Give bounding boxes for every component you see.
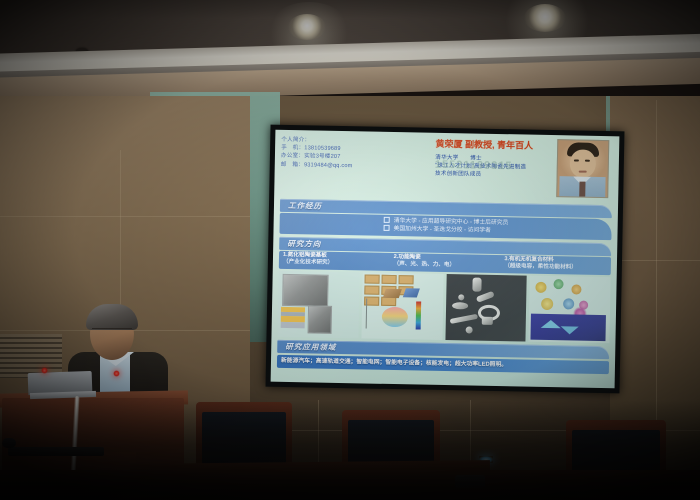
research-column: 3.有机无机复合材料 （超级电容，柔性功能材料） xyxy=(500,255,611,275)
contact-block: 个人简介： 手 机：13810539689 办公室：实验3号楼207 邮 箱：9… xyxy=(281,134,434,172)
presenter-name-title: 黄荣厦 副教授, 青年百人 xyxy=(435,138,555,152)
molecule-node xyxy=(541,298,553,310)
contact-value: 9319484@qq.com xyxy=(304,162,353,169)
research-column: 1.氮化铝陶瓷基板 （产业化技术研究） xyxy=(279,251,390,271)
composite-illustration xyxy=(531,313,606,340)
chip xyxy=(398,275,413,284)
layer-diagram xyxy=(281,307,305,329)
indicator-light-red-icon xyxy=(41,367,48,374)
figure-samples xyxy=(361,272,443,340)
glasses-icon xyxy=(92,328,132,337)
photo-eye xyxy=(584,160,589,162)
ceramic-rod xyxy=(449,314,477,324)
desk-phone xyxy=(455,475,485,488)
chair-back xyxy=(202,412,286,464)
triangle-shape xyxy=(561,326,579,334)
figure-components xyxy=(445,274,527,342)
presenter-hair xyxy=(86,304,138,330)
screenshot-root: 4 15521139315 个人简介： 手 机：13 xyxy=(0,0,700,500)
chip xyxy=(364,274,379,283)
presenter-photo xyxy=(556,139,609,198)
ceramic-part xyxy=(475,291,494,303)
molecule-node xyxy=(572,284,582,294)
contact-label: 办公室： xyxy=(281,153,304,159)
research-column: 2.功能陶瓷 （声、光、热、力、电） xyxy=(389,253,500,273)
figure-equipment xyxy=(277,271,359,339)
figure-molecules xyxy=(529,275,611,343)
sample-plate xyxy=(383,289,402,298)
research-column-sub: （声、光、热、力、电） xyxy=(393,261,497,270)
presenter-photo-wrap xyxy=(556,139,614,198)
photo-tie xyxy=(579,182,585,197)
sample-plate xyxy=(403,288,420,297)
photo-mouth xyxy=(578,171,586,173)
contact-value: 13810539689 xyxy=(304,145,341,152)
ceramic-part xyxy=(465,326,472,333)
presentation-slide: 15521139315 个人简介： 手 机：13810539689 办公室：实验… xyxy=(271,130,620,389)
figure-image xyxy=(282,274,329,307)
research-column-sub: （超级电容，柔性功能材料） xyxy=(504,264,608,273)
colorbar-legend xyxy=(415,301,421,329)
bullet-square-icon xyxy=(384,225,390,231)
slide-watermark-number: 15521139315 xyxy=(435,159,513,172)
bullet-square-icon xyxy=(384,217,390,223)
figure-strip xyxy=(277,271,610,343)
screen-surface: 15521139315 个人简介： 手 机：13810539689 办公室：实验… xyxy=(271,130,620,389)
ceiling-light-icon xyxy=(524,4,566,32)
molecule-node xyxy=(554,279,564,289)
photo-face xyxy=(569,149,596,177)
experience-text: 美国加州大学 - 圣迭戈分校 - 访问学者 xyxy=(394,226,491,234)
simulation-disc xyxy=(381,307,407,327)
screen-frame: 15521139315 个人简介： 手 机：13810539689 办公室：实验… xyxy=(266,125,625,394)
wall-seam xyxy=(0,216,250,217)
wall-seam xyxy=(612,260,700,261)
ceramic-part xyxy=(481,317,492,325)
contact-label: 手 机： xyxy=(281,145,304,151)
contact-label: 邮 箱： xyxy=(281,161,304,167)
triangle-shape xyxy=(541,320,561,328)
ceramic-part xyxy=(472,277,481,291)
desk-equipment xyxy=(8,447,104,456)
chip xyxy=(381,275,396,284)
ceramic-part xyxy=(458,294,464,300)
projection-screen: 15521139315 个人简介： 手 机：13810539689 办公室：实验… xyxy=(266,125,625,394)
figure-image xyxy=(308,305,333,333)
photo-eye xyxy=(573,159,578,161)
ceiling-light-icon xyxy=(288,14,326,40)
chip xyxy=(364,285,379,294)
contact-row: 邮 箱：9319484@qq.com xyxy=(281,160,434,171)
research-column-sub: （产业化技术研究） xyxy=(283,259,387,268)
ceramic-part xyxy=(452,302,468,309)
plot-axis xyxy=(365,298,367,328)
molecule-node xyxy=(536,282,547,293)
wall-seam xyxy=(656,100,657,440)
desk-object xyxy=(2,438,16,448)
front-table xyxy=(0,470,700,500)
indicator-light-red-icon xyxy=(113,370,120,377)
molecule-node xyxy=(563,298,574,309)
layer xyxy=(281,322,305,328)
chair xyxy=(196,402,292,464)
contact-value: 实验3号楼207 xyxy=(304,154,341,161)
applications-text: 新能源汽车；高速轨道交通；智能电网；智能电子设备；核能发电；超大功率LED照明。 xyxy=(281,357,606,371)
